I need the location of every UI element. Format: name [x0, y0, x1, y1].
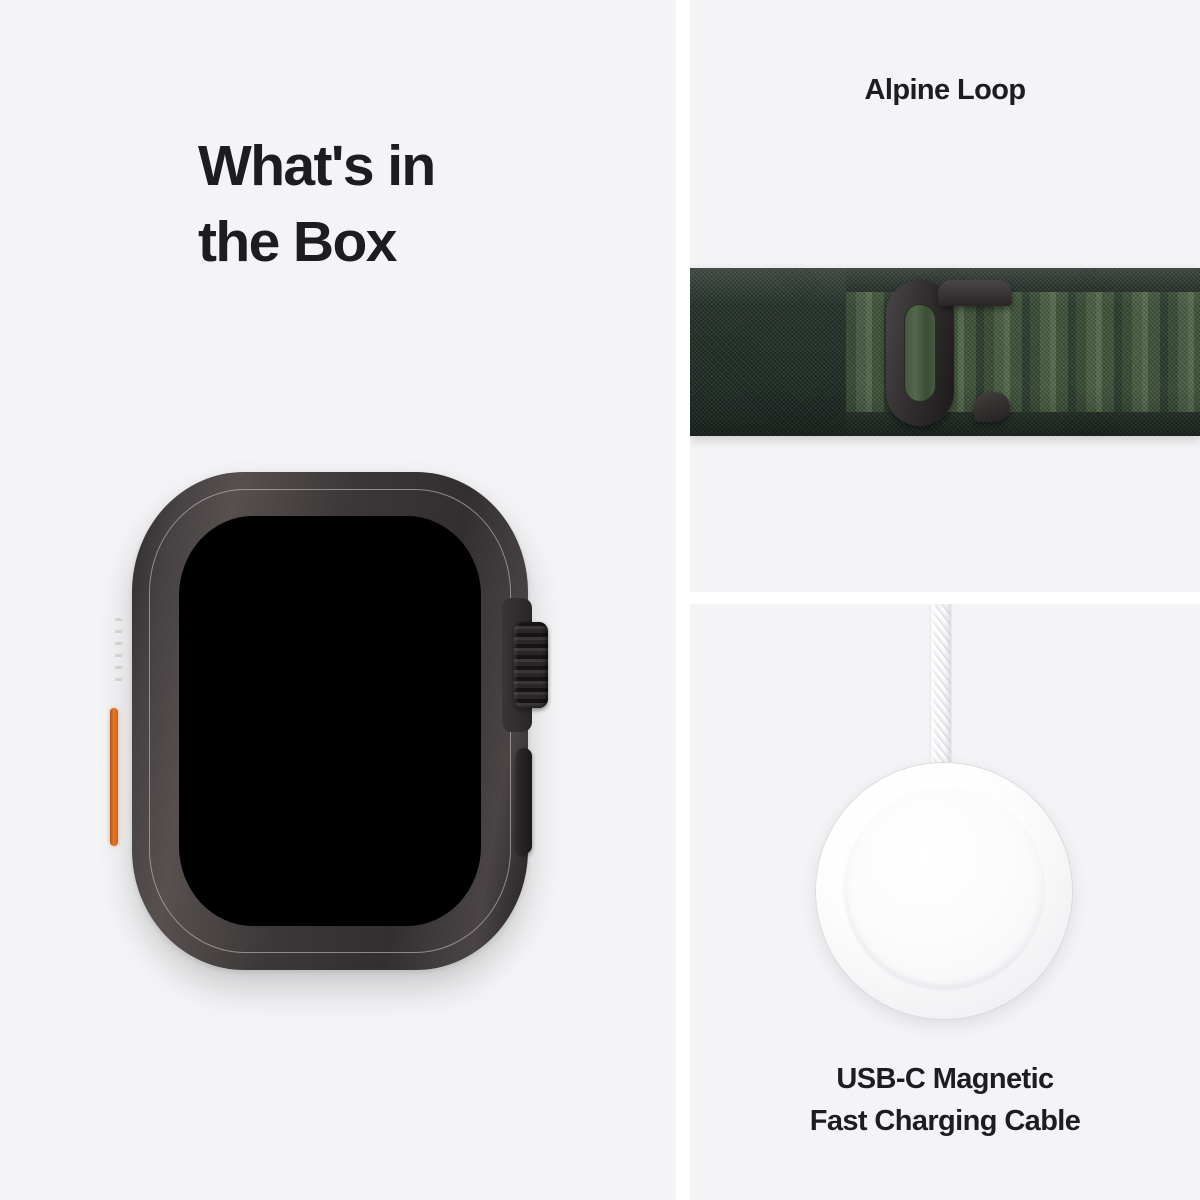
alpine-loop-label: Alpine Loop [690, 72, 1200, 108]
panel-charging-cable: USB-C Magnetic Fast Charging Cable [690, 604, 1200, 1200]
apple-watch-ultra [110, 470, 560, 972]
watch-case [132, 472, 528, 970]
panel-watch: What's in the Box [0, 0, 676, 1200]
speaker-grille-icon [115, 618, 122, 682]
side-button[interactable] [516, 748, 532, 854]
charger-puck-inner [845, 790, 1043, 988]
panel-alpine-loop: Alpine Loop [690, 0, 1200, 592]
action-button[interactable] [110, 708, 118, 846]
charging-cable-label: USB-C Magnetic Fast Charging Cable [690, 1058, 1200, 1142]
charger-puck [815, 762, 1073, 1020]
buckle-hook-tip [974, 392, 1010, 422]
whats-in-the-box-layout: What's in the Box Alpine Loop [0, 0, 1200, 1200]
page-title: What's in the Box [198, 128, 618, 280]
buckle-arm [938, 280, 1012, 306]
g-hook-buckle [886, 274, 1012, 432]
watch-screen [179, 516, 481, 926]
digital-crown[interactable] [514, 622, 548, 708]
alpine-loop-band [690, 268, 1200, 436]
